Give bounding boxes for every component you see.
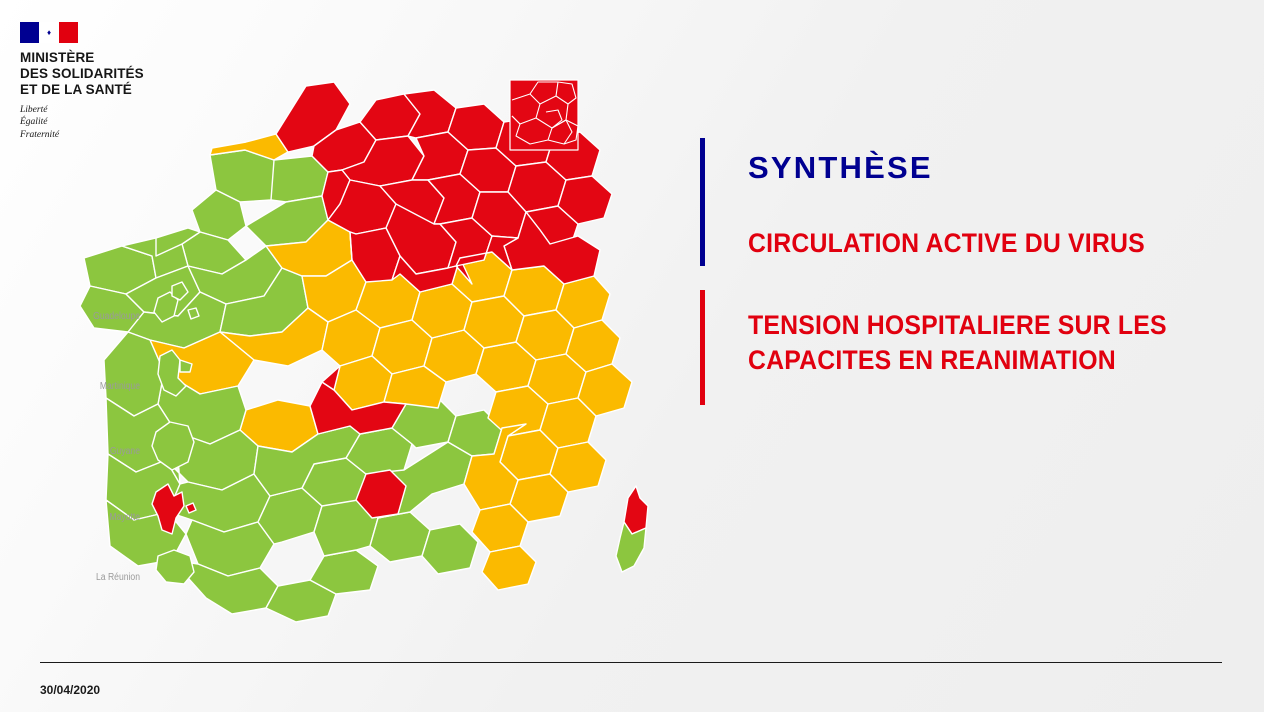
- footer-divider: [40, 662, 1222, 663]
- french-flag-icon: ♦: [20, 22, 78, 43]
- flag-band-blue: [20, 22, 39, 43]
- overseas-label-mayotte: Mayotte: [71, 512, 140, 523]
- france-departments-choropleth: [60, 60, 700, 630]
- marianne-icon: ♦: [47, 29, 51, 37]
- criterion-virus-circulation: CIRCULATION ACTIVE DU VIRUS: [748, 226, 1145, 261]
- ile-de-france-inset: [510, 80, 578, 150]
- accent-bar-blue: [700, 138, 705, 266]
- overseas-label-guadeloupe: Guadeloupe: [71, 311, 140, 322]
- page-title: SYNTHÈSE: [748, 150, 933, 186]
- overseas-label-martinique: Martinique: [71, 381, 140, 392]
- france-map: Guadeloupe Martinique Guyane Mayotte La …: [60, 60, 700, 630]
- shape-la-reunion: [156, 550, 194, 584]
- flag-band-white: ♦: [39, 22, 58, 43]
- corsica: [616, 486, 648, 572]
- slide-canvas: ♦ MINISTÈRE DES SOLIDARITÉS ET DE LA SAN…: [0, 0, 1264, 712]
- criterion-hospital-tension: TENSION HOSPITALIERE SUR LES CAPACITES E…: [748, 308, 1263, 377]
- footer-date: 30/04/2020: [40, 683, 100, 697]
- overseas-label-guyane: Guyane: [71, 446, 140, 457]
- flag-band-red: [59, 22, 78, 43]
- overseas-label-reunion: La Réunion: [71, 572, 140, 583]
- accent-bar-red: [700, 290, 705, 405]
